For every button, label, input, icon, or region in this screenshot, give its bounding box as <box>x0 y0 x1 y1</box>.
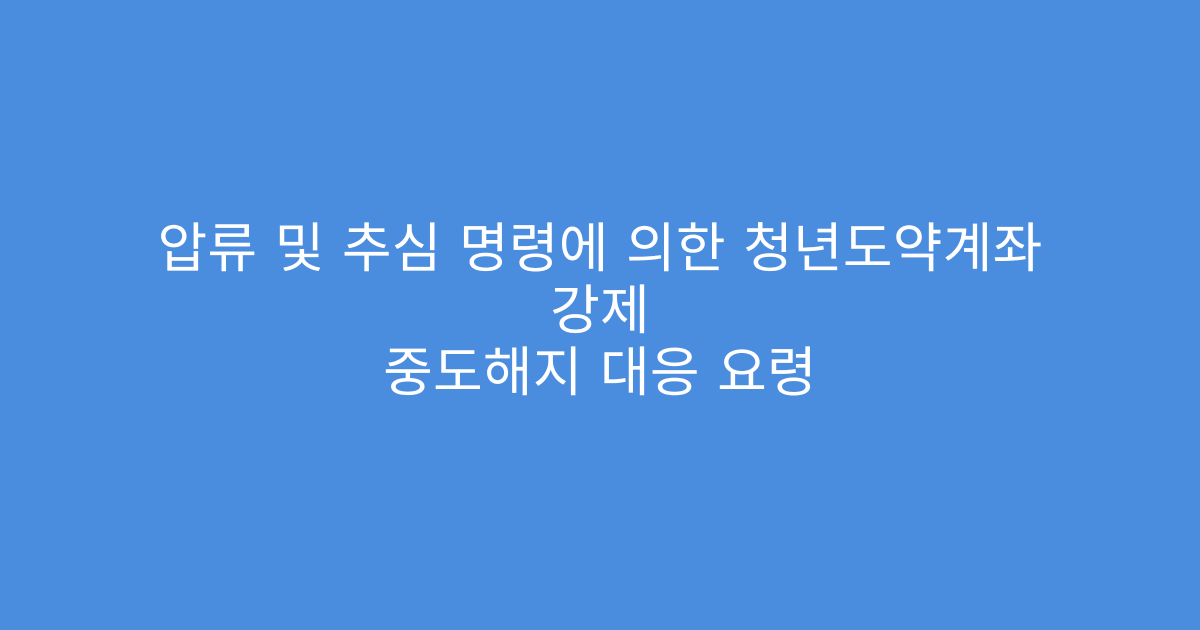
title-block: 압류 및 추심 명령에 의한 청년도약계좌 강제 중도해지 대응 요령 <box>100 218 1100 404</box>
social-share-card: 압류 및 추심 명령에 의한 청년도약계좌 강제 중도해지 대응 요령 <box>0 0 1200 630</box>
card-title: 압류 및 추심 명령에 의한 청년도약계좌 강제 중도해지 대응 요령 <box>120 218 1080 404</box>
